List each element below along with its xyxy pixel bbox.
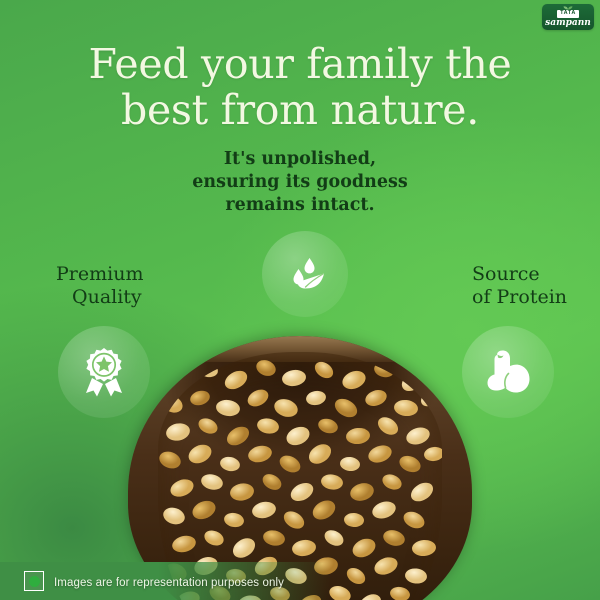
leaf-water-drop-icon (279, 248, 331, 300)
feature-label-source-of-protein: Source of Protein (472, 263, 567, 309)
feature-label-premium-quality: Premium Quality (56, 263, 143, 309)
leaf-sprout-icon (563, 5, 573, 10)
flexed-bicep-icon (480, 344, 536, 400)
source-of-protein-line-2: of Protein (472, 286, 567, 309)
product-bowl (128, 336, 472, 600)
logo-sampann-text: sampann (545, 19, 591, 28)
subheading: It's unpolished, ensuring its goodness r… (0, 148, 600, 217)
footer-bar: Images are for representation purposes o… (0, 562, 600, 600)
logo-tata-text: TATA (557, 10, 579, 18)
headline: Feed your family the best from nature. (0, 42, 600, 134)
disclaimer-text: Images are for representation purposes o… (54, 577, 284, 589)
feature-badge-premium-quality (58, 326, 150, 418)
subheading-line-1: It's unpolished, (0, 148, 600, 171)
headline-line-1: Feed your family the (89, 40, 512, 88)
subheading-line-3: remains intact. (0, 194, 600, 217)
source-of-protein-line-1: Source (472, 263, 567, 286)
feature-badge-source-of-protein (462, 326, 554, 418)
premium-quality-line-2: Quality (72, 286, 143, 309)
premium-quality-line-1: Premium (56, 263, 143, 286)
subheading-line-2: ensuring its goodness (0, 171, 600, 194)
vegetarian-dot (29, 576, 40, 587)
headline-line-2: best from nature. (0, 88, 600, 134)
vegetarian-mark-icon (24, 571, 44, 591)
tata-sampann-logo: TATA sampann (542, 4, 594, 30)
award-rosette-icon (76, 344, 132, 400)
feature-badge-natural (262, 231, 348, 317)
promotional-poster: TATA sampann Feed your family the best f… (0, 0, 600, 600)
